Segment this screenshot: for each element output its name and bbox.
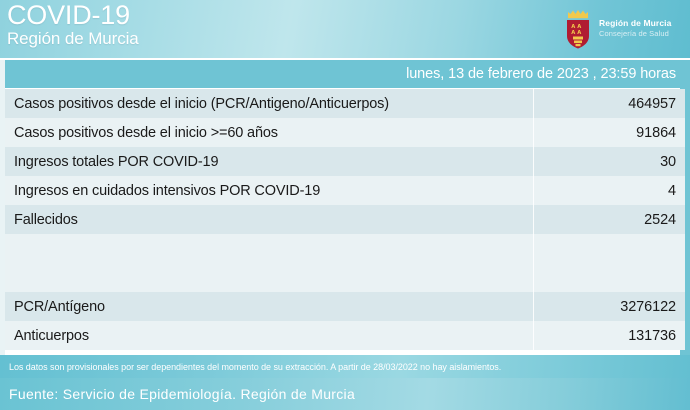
covid19-report-page: COVID-19 Región de Murcia A A A A bbox=[0, 0, 690, 410]
table-row-value: 131736 bbox=[533, 328, 685, 344]
logo-line-region: Región de Murcia bbox=[599, 18, 671, 28]
report-date-text: lunes, 13 de febrero de 2023 , 23:59 hor… bbox=[406, 66, 676, 82]
region-de-murcia-logo: A A A A Región de Murcia Consejería de S… bbox=[562, 6, 682, 50]
table-row: Casos positivos desde el inicio >=60 año… bbox=[5, 118, 685, 147]
table-row-value: 3276122 bbox=[533, 299, 685, 315]
table-row: PCR/Antígeno3276122 bbox=[5, 292, 685, 321]
table-row-label: PCR/Antígeno bbox=[5, 299, 533, 315]
svg-text:A: A bbox=[571, 30, 575, 36]
table-row: Anticuerpos131736 bbox=[5, 321, 685, 350]
source-text: Fuente: Servicio de Epidemiología. Regió… bbox=[9, 386, 355, 402]
svg-text:A: A bbox=[577, 30, 581, 36]
logo-line-consejeria: Consejería de Salud bbox=[599, 29, 671, 38]
page-subtitle: Región de Murcia bbox=[7, 30, 139, 48]
table-row-value: 91864 bbox=[533, 125, 685, 141]
footnote-band: Los datos son provisionales por ser depe… bbox=[0, 355, 690, 378]
region-de-murcia-crest-icon: A A A A bbox=[562, 7, 594, 49]
table-row: Fallecidos2524 bbox=[5, 205, 685, 234]
table-row-label: Ingresos en cuidados intensivos POR COVI… bbox=[5, 183, 533, 199]
table-row bbox=[5, 263, 685, 292]
table-row-value: 464957 bbox=[533, 96, 685, 112]
footnote-text: Los datos son provisionales por ser depe… bbox=[9, 362, 501, 372]
table-row-label: Casos positivos desde el inicio (PCR/Ant… bbox=[5, 96, 533, 112]
table-row-label: Ingresos totales POR COVID-19 bbox=[5, 154, 533, 170]
table-row: Ingresos totales POR COVID-1930 bbox=[5, 147, 685, 176]
table-row bbox=[5, 234, 685, 263]
report-date-band: lunes, 13 de febrero de 2023 , 23:59 hor… bbox=[5, 60, 685, 88]
table-row-label: Anticuerpos bbox=[5, 328, 533, 344]
header-titles: COVID-19 Región de Murcia bbox=[7, 1, 139, 48]
table-row: Casos positivos desde el inicio (PCR/Ant… bbox=[5, 89, 685, 118]
table-row-value: 2524 bbox=[533, 212, 685, 228]
table-row: Ingresos en cuidados intensivos POR COVI… bbox=[5, 176, 685, 205]
table-row-value: 30 bbox=[533, 154, 685, 170]
page-header: COVID-19 Región de Murcia A A A A bbox=[0, 0, 690, 58]
table-row-value: 4 bbox=[533, 183, 685, 199]
table-row-label: Casos positivos desde el inicio >=60 año… bbox=[5, 125, 533, 141]
logo-text: Región de Murcia Consejería de Salud bbox=[599, 18, 671, 38]
source-band: Fuente: Servicio de Epidemiología. Regió… bbox=[0, 378, 690, 410]
page-title: COVID-19 bbox=[7, 1, 139, 29]
table-row-label: Fallecidos bbox=[5, 212, 533, 228]
statistics-table: Casos positivos desde el inicio (PCR/Ant… bbox=[5, 89, 685, 350]
